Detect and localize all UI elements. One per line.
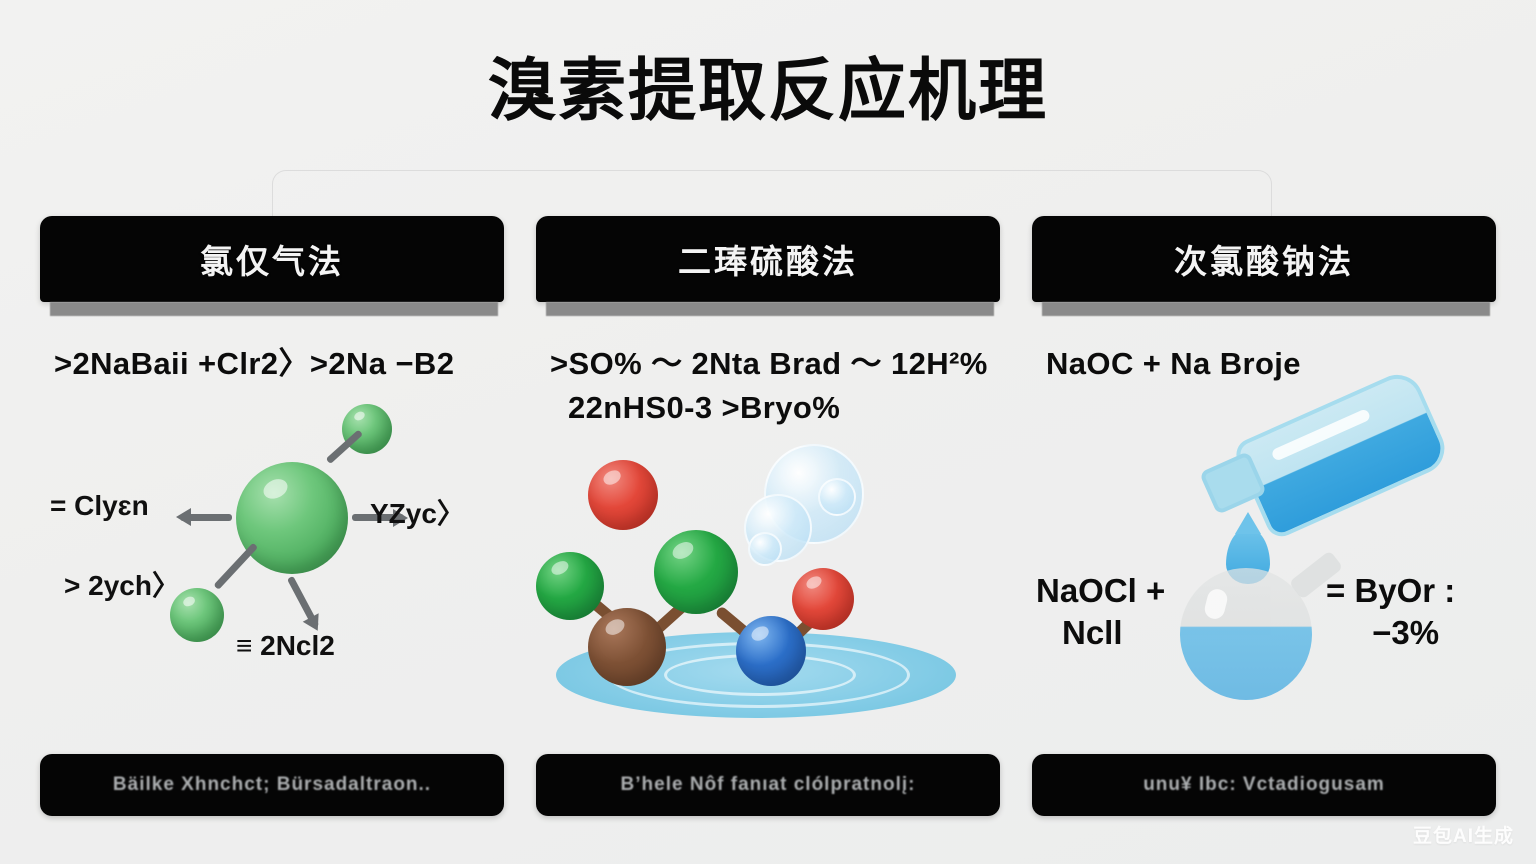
bubble-tiny: [748, 532, 782, 566]
diagram-label-bottom: ≡ 2Ncl2: [236, 630, 335, 662]
header-shadow-bar: [546, 302, 994, 316]
diagram-label-left: = Clyɛn: [50, 490, 149, 522]
equation-block: NaOC + Na Broje: [1032, 342, 1496, 386]
atom-highlight: [670, 538, 696, 562]
arrow-down: [287, 576, 319, 629]
card-footer-plate: unu¥ Ibc: Vсtаdioguѕam: [1032, 754, 1496, 816]
atom-highlight: [601, 467, 623, 487]
equation-block: >2NaBaii +Clr2〉>2Na −B2: [40, 342, 504, 386]
page-title: 溴素提取反应机理: [0, 54, 1536, 129]
atom-highlight: [260, 476, 290, 503]
reaction-text-left: NaOCl + Ncll: [1036, 570, 1165, 654]
atom-highlight: [749, 623, 771, 643]
equation-line: >SO% ～ 2Nta Brad ～ 12H²%: [550, 342, 1000, 386]
atom-chlorine-large: [236, 462, 348, 574]
atom-green-left: [536, 552, 604, 620]
header-shadow-bar: [50, 302, 498, 316]
method-card-sulfur-dioxide[interactable]: 二琫硫酸法 >SO% ～ 2Nta Brad ～ 12H²% 22nHS0-3 …: [536, 216, 1000, 816]
reaction-right-line1: = ByOr :: [1326, 572, 1455, 609]
equation-line: >2NaBaii +Clr2〉>2Na −B2: [54, 342, 504, 386]
bottle-gloss: [1271, 408, 1372, 462]
arrow-left: [180, 514, 232, 521]
card-footer-caption: Bäilke Xhnchct; Bürsadaltraon..: [113, 774, 431, 796]
ai-watermark: 豆包AI生成: [1413, 821, 1514, 848]
card-footer-caption: B’hele Nôf fanıat clólpratnolį:: [621, 774, 916, 796]
atom-brown-bottom-left: [588, 608, 666, 686]
diagram-label-lower-left: > 2ych〉: [64, 564, 180, 604]
atom-red-right: [792, 568, 854, 630]
card-footer-plate: B’hele Nôf fanıat clólpratnolį:: [536, 754, 1000, 816]
card-header-plate: 氯仅气法: [40, 216, 504, 302]
card-footer-plate: Bäilke Xhnchct; Bürsadaltraon..: [40, 754, 504, 816]
atom-highlight: [549, 559, 570, 578]
card-footer-caption: unu¥ Ibc: Vсtаdioguѕam: [1143, 774, 1385, 796]
reaction-left-line2: Ncll: [1036, 612, 1123, 654]
flask-gloss: [1203, 587, 1230, 621]
equation-block: >SO% ～ 2Nta Brad ～ 12H²% 22nHS0-3 >Bryo%: [536, 342, 1000, 430]
reaction-text-right: = ByOr : −3%: [1326, 570, 1455, 654]
atom-blue-bottom-right: [736, 616, 806, 686]
equation-line: NaOC + Na Broje: [1046, 342, 1496, 386]
atom-red-top: [588, 460, 658, 530]
equation-line: 22nHS0-3 >Bryo%: [550, 386, 1000, 430]
atom-green-center: [654, 530, 738, 614]
reaction-left-line1: NaOCl +: [1036, 572, 1165, 609]
card-title: 二琫硫酸法: [678, 235, 858, 283]
card-header-plate: 次氯酸钠法: [1032, 216, 1496, 302]
method-card-list: 氯仅气法 >2NaBaii +Clr2〉>2Na −B2: [0, 216, 1536, 816]
card-title: 次氯酸钠法: [1174, 235, 1354, 283]
method-card-chlorine[interactable]: 氯仅气法 >2NaBaii +Clr2〉>2Na −B2: [40, 216, 504, 816]
atom-highlight: [603, 616, 627, 638]
method-card-sodium-hypochlorite[interactable]: 次氯酸钠法 NaOC + Na Broje: [1032, 216, 1496, 816]
card-header-plate: 二琫硫酸法: [536, 216, 1000, 302]
bond-line-lower-left: [213, 543, 258, 590]
illustration-chlorine-diagram: = Clyɛn YZyc〉 > 2ych〉 ≡ 2Ncl2: [40, 392, 504, 692]
diagram-label-right: YZyc〉: [370, 492, 465, 532]
bottle-icon: [1231, 367, 1452, 542]
atom-highlight: [353, 410, 366, 422]
bubble-small: [818, 478, 856, 516]
poster-root: 溴素提取反应机理 氯仅气法 >2NaBaii +Clr2〉>2Na −B2: [0, 0, 1536, 864]
reaction-right-line2: −3%: [1342, 612, 1439, 654]
header-shadow-bar: [1042, 302, 1490, 316]
illustration-molecule-water: [536, 436, 1000, 736]
atom-highlight: [804, 574, 823, 591]
card-title: 氯仅气法: [200, 235, 344, 283]
illustration-bottle-flask: NaOCl + Ncll = ByOr : −3%: [1032, 392, 1496, 692]
atom-highlight: [182, 595, 196, 608]
